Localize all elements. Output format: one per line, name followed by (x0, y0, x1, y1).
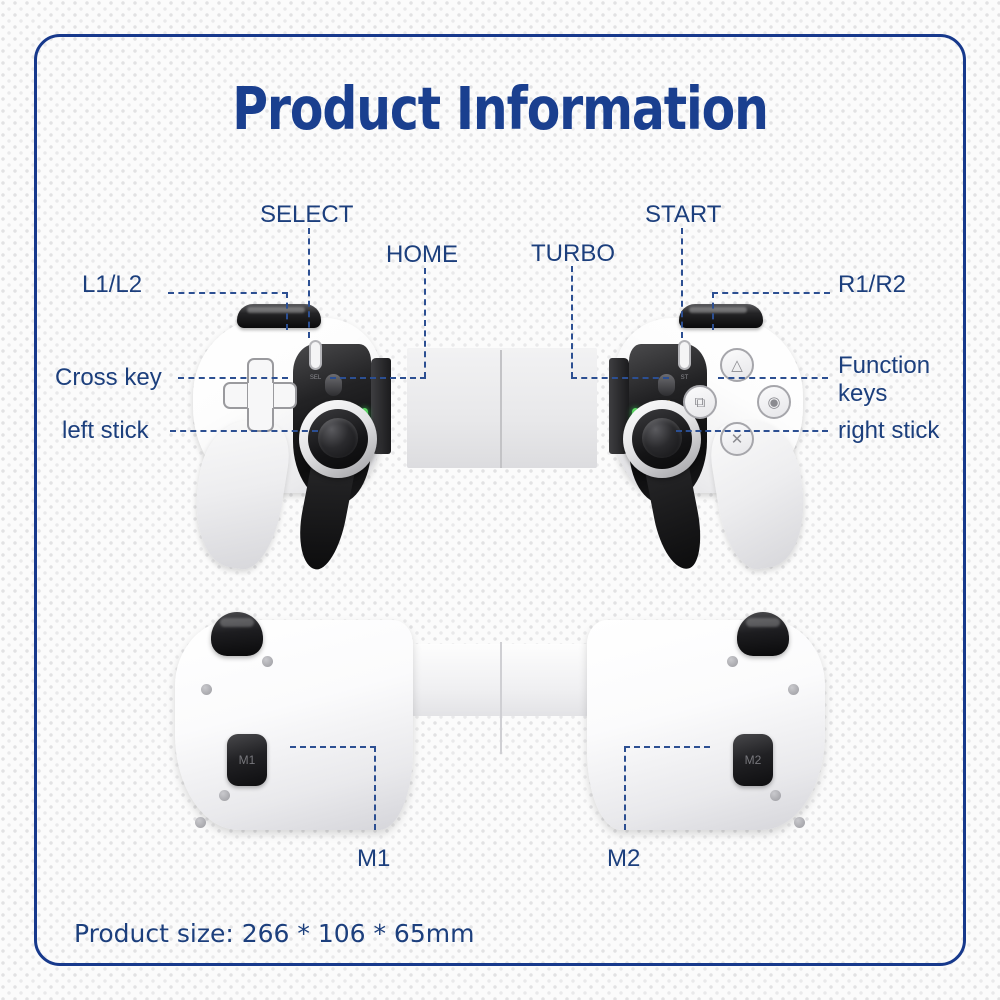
label-cross-key: Cross key (55, 365, 162, 392)
label-m2: M2 (607, 846, 640, 873)
label-start: START (645, 202, 721, 229)
square-button-icon[interactable]: ⧉ (683, 385, 717, 419)
cross-key-dpad-icon (223, 358, 297, 432)
rear-right-stick (737, 612, 789, 656)
page-title: Product Information (40, 74, 960, 143)
left-stick-control[interactable] (299, 400, 377, 478)
m2-paddle-button[interactable]: M2 (733, 734, 773, 786)
leader-r1r2-v (712, 292, 714, 330)
cross-button-icon[interactable]: ✕ (720, 422, 754, 456)
rear-left-stick (211, 612, 263, 656)
leader-m2-v (624, 746, 626, 830)
screw-icon (262, 656, 273, 667)
select-button[interactable] (309, 340, 322, 370)
leader-r1r2-h (712, 292, 830, 294)
label-home: HOME (386, 242, 458, 269)
rear-left-wing (175, 620, 413, 830)
leader-function-keys (718, 377, 828, 379)
m1-paddle-button[interactable]: M1 (227, 734, 267, 786)
leader-l1l2-v (286, 292, 288, 330)
leader-home-h (330, 377, 426, 379)
label-function-keys-line1: Function (838, 353, 930, 380)
label-m1: M1 (357, 846, 390, 873)
screw-icon (770, 790, 781, 801)
screw-icon (727, 656, 738, 667)
leader-start-v (681, 228, 683, 338)
bridge-seam (500, 350, 502, 468)
leader-m1-v (374, 746, 376, 830)
label-r1r2: R1/R2 (838, 272, 906, 299)
rear-center-seam (500, 642, 502, 754)
leader-turbo-v (571, 266, 573, 378)
leader-left-stick (170, 430, 318, 432)
label-select: SELECT (260, 202, 353, 229)
screw-icon (195, 817, 206, 828)
leader-turbo-h (571, 377, 669, 379)
leader-m2-h (624, 746, 710, 748)
leader-l1l2-h (168, 292, 288, 294)
infographic-canvas: Product Information SEL ⌂ (0, 0, 1000, 1000)
label-turbo: TURBO (531, 241, 615, 268)
phone-bridge (407, 348, 597, 468)
leader-select-v (308, 228, 310, 338)
screw-icon (201, 684, 212, 695)
screw-icon (794, 817, 805, 828)
label-l1l2: L1/L2 (82, 272, 142, 299)
screw-icon (219, 790, 230, 801)
function-keys-cluster: △ ⧉ ◉ ✕ (683, 348, 791, 456)
leader-right-stick (676, 430, 828, 432)
label-right-stick: right stick (838, 418, 939, 445)
product-size-text: Product size: 266 * 106 * 65mm (74, 919, 474, 948)
leader-cross-key (178, 377, 288, 379)
controller-rear-image: M1 M2 (175, 612, 825, 842)
leader-m1-h (290, 746, 376, 748)
leader-home-v (424, 268, 426, 378)
screw-icon (788, 684, 799, 695)
select-button-caption: SEL (308, 374, 323, 382)
circle-button-icon[interactable]: ◉ (757, 385, 791, 419)
controller-left-half: SEL ⌂ (175, 300, 405, 558)
rear-right-wing (587, 620, 825, 830)
label-left-stick: left stick (62, 418, 149, 445)
label-function-keys-line2: keys (838, 381, 887, 408)
controller-right-half: ST ⚡ △ ⧉ ◉ ✕ (595, 300, 825, 558)
r1-r2-bumper-icon (679, 304, 763, 328)
rear-brand-mark (453, 666, 533, 684)
